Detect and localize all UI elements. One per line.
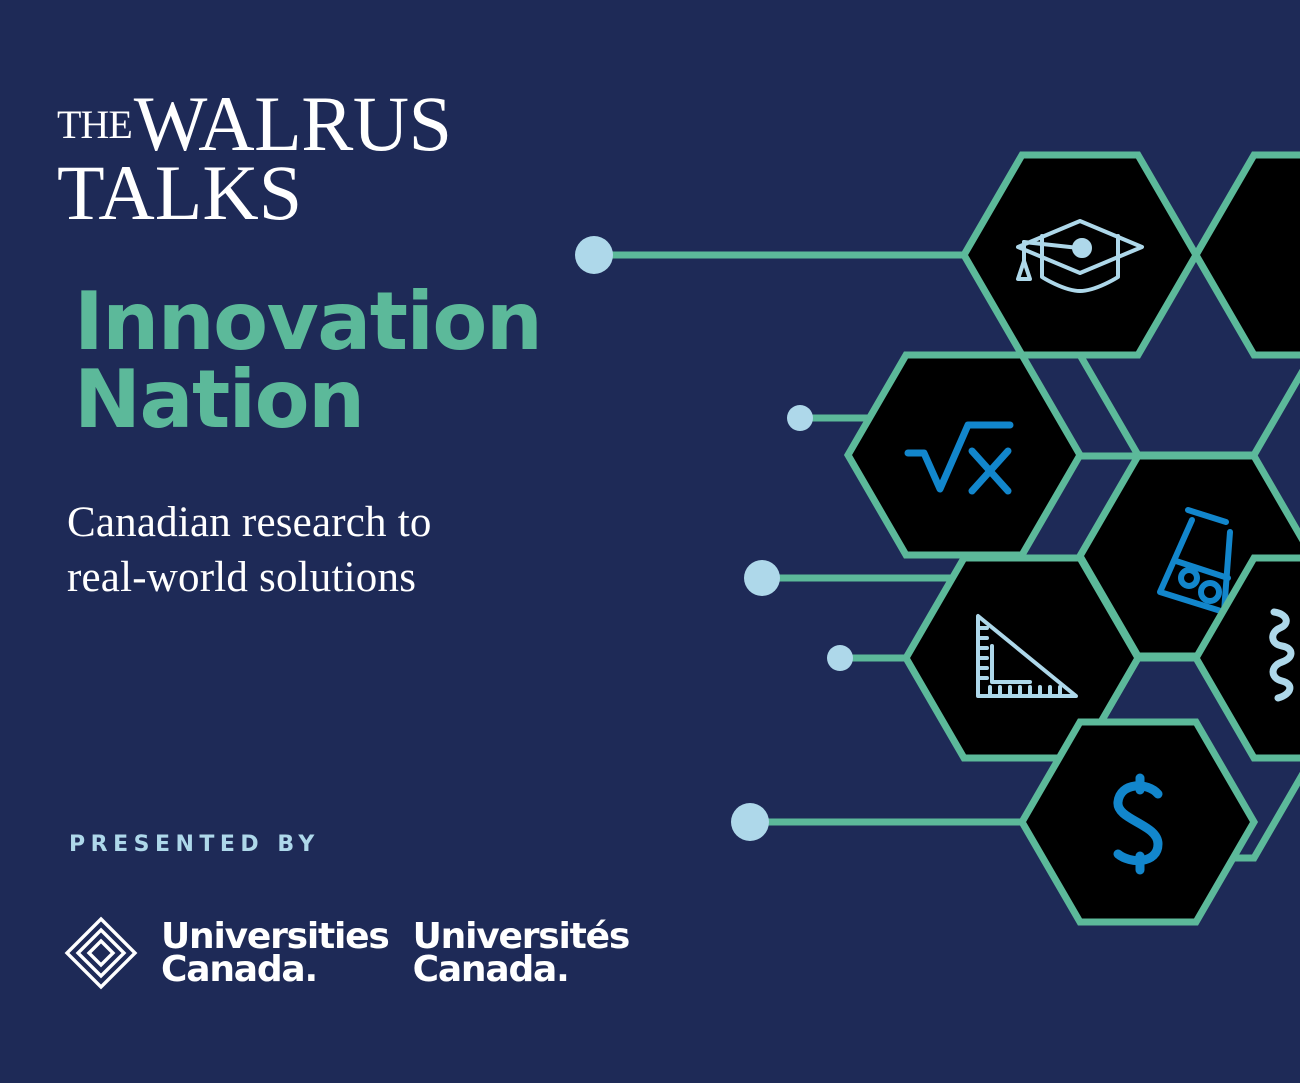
- node-dot-small: [787, 405, 813, 431]
- connector-nodes: [575, 236, 853, 841]
- hex-filled-group: [848, 155, 1300, 922]
- headline-line-two: Nation: [74, 361, 574, 439]
- nested-diamond-logo-mark: [63, 915, 139, 991]
- hex-square-root: [848, 355, 1080, 555]
- hex-top-right-clipped: [1196, 155, 1300, 355]
- sponsor-fr-line-two: Canada.: [413, 953, 629, 986]
- poster-canvas: THEWALRUS TALKS Innovation Nation Canadi…: [0, 0, 1300, 1083]
- sponsor-wordmark-french: Universités Canada.: [413, 920, 629, 987]
- subhead-line-one: Canadian research to: [67, 499, 432, 546]
- hexagon-network-artwork: [560, 0, 1300, 1083]
- logo-the-word: THE: [57, 102, 132, 147]
- sponsor-lockup: Universities Canada. Universités Canada.: [63, 915, 653, 991]
- node-dot-large: [744, 560, 780, 596]
- sponsor-wordmark-english: Universities Canada.: [161, 920, 389, 987]
- presented-by-label: PRESENTED BY: [69, 832, 320, 857]
- hex-graduation-cap: [964, 155, 1196, 355]
- sponsor-en-line-two: Canada.: [161, 953, 389, 986]
- page-subtitle: Canadian research to real-world solution…: [67, 495, 537, 605]
- content-column: THEWALRUS TALKS Innovation Nation Canadi…: [0, 0, 600, 1083]
- the-walrus-talks-logo: THEWALRUS TALKS: [57, 88, 451, 230]
- page-title: Innovation Nation: [74, 283, 574, 438]
- subhead-line-two: real-world solutions: [67, 550, 537, 605]
- node-dot-small: [827, 645, 853, 671]
- node-dot-large: [731, 803, 769, 841]
